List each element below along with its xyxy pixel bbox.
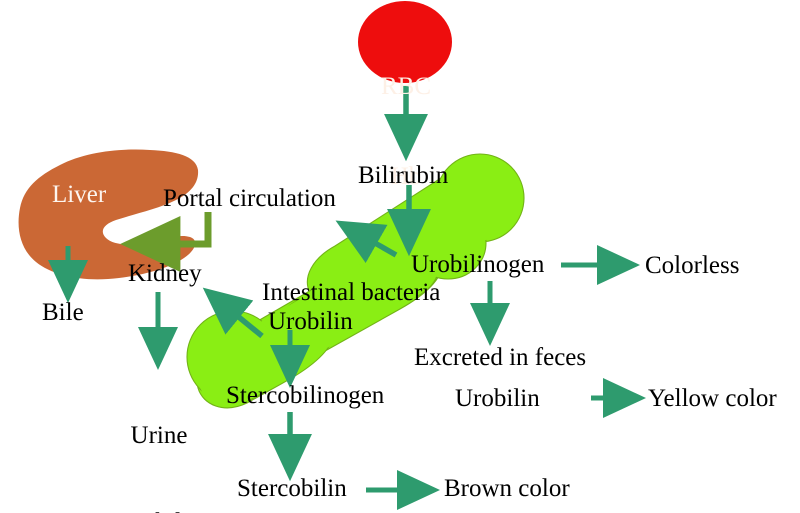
rbc-label-line1: RBC [373,72,439,102]
node-kidney: Kidney [128,259,202,288]
node-urobilin-feces: Urobilin [455,384,540,413]
node-urine-urobilin: Urine Urobilin [107,363,211,513]
node-urine-urobilin-line2: Urobilin [107,508,211,513]
node-stercobilinogen: Stercobilinogen [226,381,384,410]
node-intestinal-bacteria: Intestinal bacteria [262,278,440,307]
bilirubin-metabolism-diagram: RBC Hb Liver Bilirubin Urobilinogen Colo… [0,0,800,513]
node-stercobilin: Stercobilin [237,474,347,503]
node-brown-color: Brown color [444,474,570,503]
node-bile: Bile [42,298,84,327]
node-colorless: Colorless [645,251,739,280]
node-urobilinogen: Urobilinogen [411,250,544,279]
rbc-label: RBC Hb [373,12,439,252]
node-portal-circulation: Portal circulation [163,184,336,213]
node-yellow-color: Yellow color [648,384,777,413]
node-urine-urobilin-line1: Urine [107,421,211,450]
node-bilirubin: Bilirubin [358,161,448,190]
node-excreted-in-feces: Excreted in feces [414,343,586,372]
liver-label: Liver [52,180,106,209]
node-urobilin-gut: Urobilin [268,307,353,336]
